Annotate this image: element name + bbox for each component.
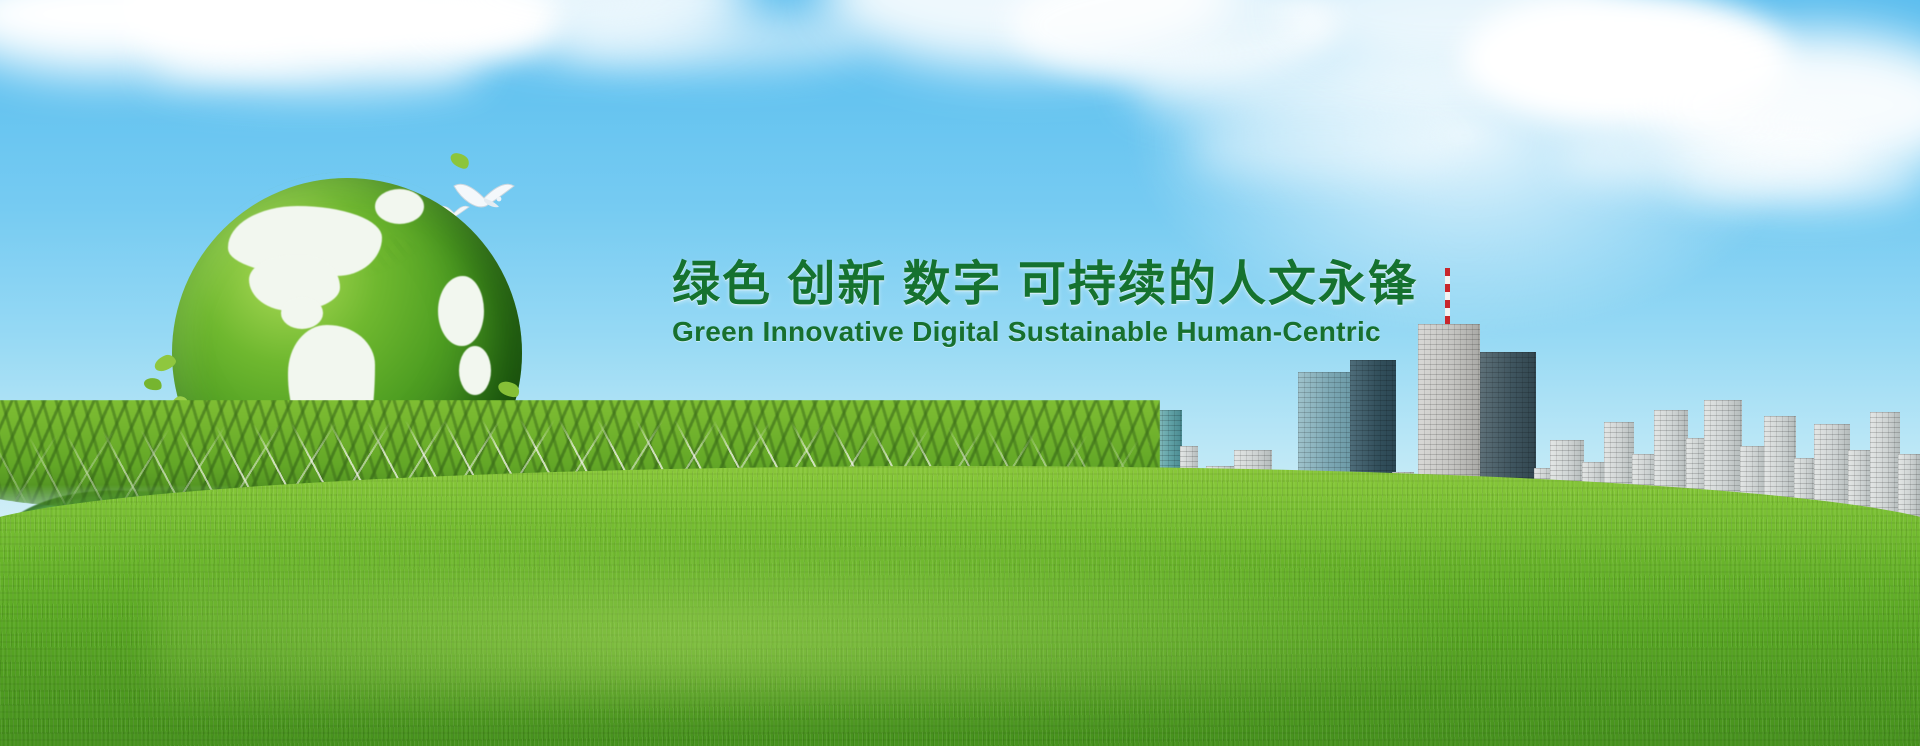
- grass-highlight: [154, 536, 1498, 706]
- tower-antenna: [1445, 268, 1450, 324]
- headline-chinese: 绿色 创新 数字 可持续的人文永锋: [672, 258, 1312, 312]
- banner-text-block: 绿色 创新 数字 可持续的人文永锋 Green Innovative Digit…: [672, 258, 1312, 348]
- subtitle-english: Green Innovative Digital Sustainable Hum…: [672, 316, 1312, 348]
- eco-banner: 绿色 创新 数字 可持续的人文永锋 Green Innovative Digit…: [0, 0, 1920, 746]
